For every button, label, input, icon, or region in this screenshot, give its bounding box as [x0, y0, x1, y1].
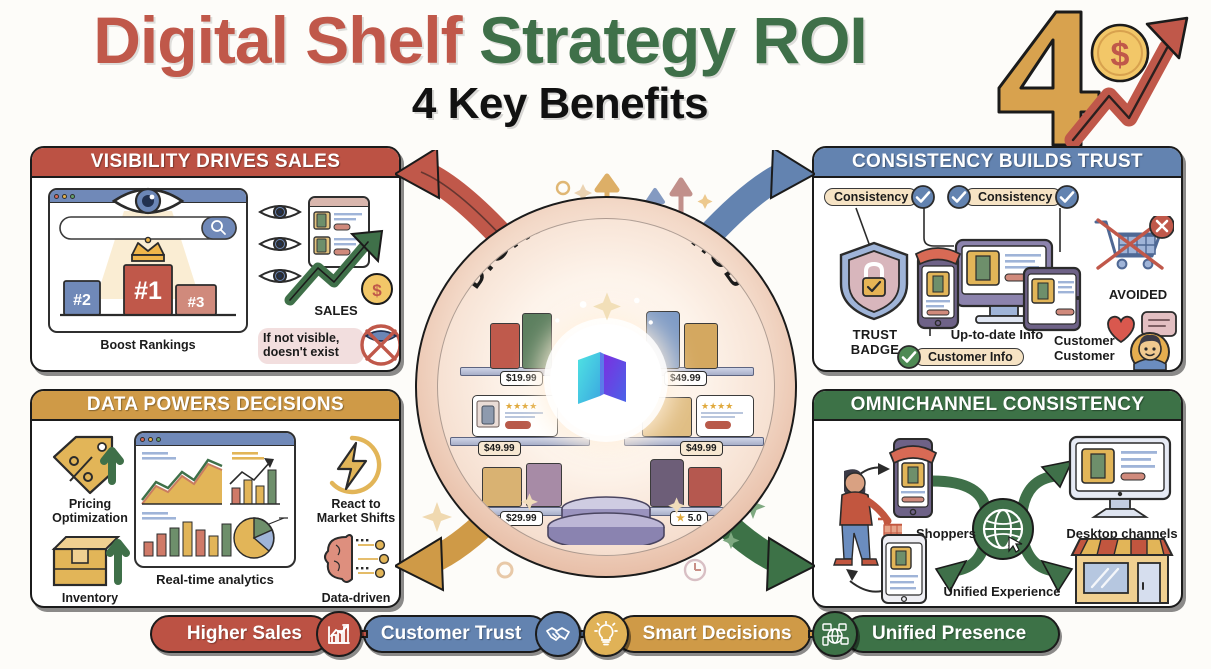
customer-line-1: Customer: [1054, 334, 1144, 349]
ai-brain-icon: [320, 531, 392, 589]
brand-logo-badge: [550, 324, 662, 436]
browser-dot-green: [70, 194, 75, 199]
physical-store-icon: [1068, 529, 1176, 608]
caption-data-driven: Data-driven decisions: [310, 591, 401, 608]
lightbulb-icon[interactable]: [583, 611, 629, 657]
rating-value: 5.0: [688, 513, 702, 524]
infographic-canvas: Digital Shelf Strategy ROI 4 Key Benefit…: [0, 0, 1211, 669]
handshake-icon[interactable]: [535, 611, 581, 657]
hub-inner-disc: DIGITAL SHELF HUB ★★★★: [437, 218, 775, 556]
dollar-coin-icon: $: [1092, 25, 1148, 81]
analytics-dashboard-mock: [134, 431, 296, 568]
banner-pill-smart-decisions[interactable]: Smart Decisions: [615, 615, 811, 653]
customer-line-2: Customer: [1054, 349, 1144, 364]
inventory-box-icon: [48, 529, 132, 591]
note-line-1: If not visible,: [263, 331, 366, 345]
lightning-bolt-icon: [320, 435, 384, 495]
podium-rank-2: #2: [73, 292, 91, 309]
card-consistency-builds-trust[interactable]: CONSISTENCY BUILDS TRUST Consistency Con…: [812, 146, 1183, 372]
trust-badge-line-1: TRUST: [830, 328, 920, 343]
inventory-line-2: Management: [40, 605, 140, 608]
product-box-2: [522, 313, 552, 369]
trust-shield-lock-icon: [836, 240, 912, 322]
card-body-visibility: #2 #1 #3 Boost Rankings: [32, 178, 399, 370]
check-circle-icon-4: [896, 344, 922, 370]
price-tag-1: $19.99: [500, 371, 543, 386]
price-tag-4: $49.99: [680, 441, 723, 456]
product-box-3: [684, 323, 718, 369]
caption-unified-experience: Unified Experience: [932, 585, 1072, 600]
price-tag-icon: [48, 433, 132, 495]
desktop-channel-icon: [1066, 435, 1174, 521]
banner-label-higher-sales: Higher Sales: [187, 623, 302, 645]
product-box-1: [490, 323, 520, 369]
note-line-2: doesn't exist: [263, 345, 366, 359]
product-box-5: [482, 467, 522, 507]
react-line-1: React to: [310, 497, 401, 511]
title-block: Digital Shelf Strategy ROI 4 Key Benefit…: [0, 6, 960, 129]
eye-icon: [110, 180, 186, 222]
mini-titlebar: [310, 198, 368, 207]
no-visibility-icon: [358, 322, 401, 368]
caption-avoided: AVOIDED: [1100, 288, 1176, 303]
caption-pricing-optimization: Pricing Optimization: [40, 497, 140, 525]
datadriven-line-1: Data-driven: [310, 591, 401, 605]
pricing-line-1: Pricing: [40, 497, 140, 511]
chip-label-3: Customer Info: [914, 348, 1024, 366]
coin-dollar-symbol: $: [1111, 36, 1130, 74]
dash-dot-yellow: [148, 437, 153, 442]
banner-item-smart-decisions[interactable]: Smart Decisions: [585, 611, 811, 657]
page-subtitle: 4 Key Benefits: [0, 79, 960, 129]
pricing-line-2: Optimization: [40, 511, 140, 525]
inventory-line-1: Inventory: [40, 591, 140, 605]
banner-item-customer-trust[interactable]: Customer Trust: [365, 611, 581, 657]
banner-label-smart-decisions: Smart Decisions: [643, 623, 792, 645]
svg-text:$: $: [372, 281, 382, 300]
price-tag-2: $49.99: [664, 371, 707, 386]
card-header-visibility: VISIBILITY DRIVES SALES: [32, 148, 399, 178]
card-visibility-drives-sales[interactable]: VISIBILITY DRIVES SALES: [30, 146, 401, 372]
card-title-visibility: VISIBILITY DRIVES SALES: [91, 151, 341, 173]
product-review-card-right: ★★★★: [696, 395, 754, 437]
podium-rank-1: #1: [134, 277, 162, 305]
page-title: Digital Shelf Strategy ROI: [0, 6, 960, 75]
caption-sales: SALES: [300, 304, 372, 319]
brand-logo-icon: [570, 344, 642, 416]
banner-item-unified-presence[interactable]: Unified Presence: [814, 611, 1060, 657]
title-part-2: Strategy ROI: [479, 3, 867, 77]
price-tag-3: $49.99: [478, 441, 521, 456]
browser-dot-yellow: [62, 194, 67, 199]
caption-customer: Customer Customer: [1054, 334, 1144, 363]
dash-dot-green: [156, 437, 161, 442]
banner-pill-higher-sales[interactable]: Higher Sales: [150, 615, 330, 653]
banner-label-unified-presence: Unified Presence: [872, 623, 1026, 645]
crossed-cart-icon: [1092, 216, 1174, 282]
caption-not-visible: If not visible, doesn't exist: [258, 331, 366, 359]
caption-realtime-analytics: Real-time analytics: [132, 573, 298, 588]
tablet-device-icon: [876, 533, 932, 607]
card-header-consistency: CONSISTENCY BUILDS TRUST: [814, 148, 1181, 178]
datadriven-line-2: decisions: [310, 605, 401, 608]
banner-item-higher-sales[interactable]: Higher Sales: [150, 611, 362, 657]
card-header-data: DATA POWERS DECISIONS: [32, 391, 399, 421]
card-title-data: DATA POWERS DECISIONS: [87, 394, 344, 416]
svg-text:★★★★: ★★★★: [701, 401, 733, 411]
mobile-storefront-icon: [886, 431, 938, 523]
chip-customer-info[interactable]: Customer Info: [896, 344, 1024, 370]
benefits-banner: Higher Sales Customer Trust: [150, 611, 1060, 657]
product-box-7: [688, 467, 722, 507]
network-globe-icon[interactable]: [812, 611, 858, 657]
banner-pill-customer-trust[interactable]: Customer Trust: [363, 615, 549, 653]
card-title-omni: OMNICHANNEL CONSISTENCY: [851, 394, 1145, 416]
podium-rank-3: #3: [188, 294, 205, 311]
card-body-data: Pricing Optimization Inventory Managemen…: [32, 421, 399, 606]
check-circle-icon-2: [946, 184, 972, 210]
svg-text:★★★★: ★★★★: [505, 401, 537, 411]
title-part-1: Digital Shelf: [93, 3, 479, 77]
digital-shelf-hub[interactable]: DIGITAL SHELF HUB ★★★★: [415, 196, 797, 578]
bar-chart-growth-icon[interactable]: [316, 611, 362, 657]
dollar-coin-small-icon: $: [360, 272, 394, 306]
card-body-omni: Shoppers: [814, 421, 1181, 606]
browser-dot-red: [54, 194, 59, 199]
caption-inventory-management: Inventory Management: [40, 591, 140, 608]
react-line-2: Market Shifts: [310, 511, 401, 525]
card-title-consistency: CONSISTENCY BUILDS TRUST: [852, 151, 1143, 173]
caption-up-to-date: Up-to-date Info: [932, 328, 1062, 343]
card-header-omni: OMNICHANNEL CONSISTENCY: [814, 391, 1181, 421]
card-body-consistency: Consistency Consistency: [814, 178, 1181, 370]
dashboard-titlebar: [136, 433, 294, 446]
hero-four-graphic: $: [981, 0, 1211, 150]
card-omnichannel-consistency[interactable]: OMNICHANNEL CONSISTENCY: [812, 389, 1183, 608]
card-data-powers-decisions[interactable]: DATA POWERS DECISIONS Pricing Optimizati…: [30, 389, 401, 608]
dash-dot-red: [140, 437, 145, 442]
banner-label-customer-trust: Customer Trust: [381, 623, 521, 645]
caption-boost-rankings: Boost Rankings: [48, 338, 248, 352]
banner-pill-unified-presence[interactable]: Unified Presence: [844, 615, 1060, 653]
hub-podium-icon: [531, 487, 681, 545]
caption-react-market: React to Market Shifts: [310, 497, 401, 525]
product-review-card-left: ★★★★: [472, 395, 558, 437]
